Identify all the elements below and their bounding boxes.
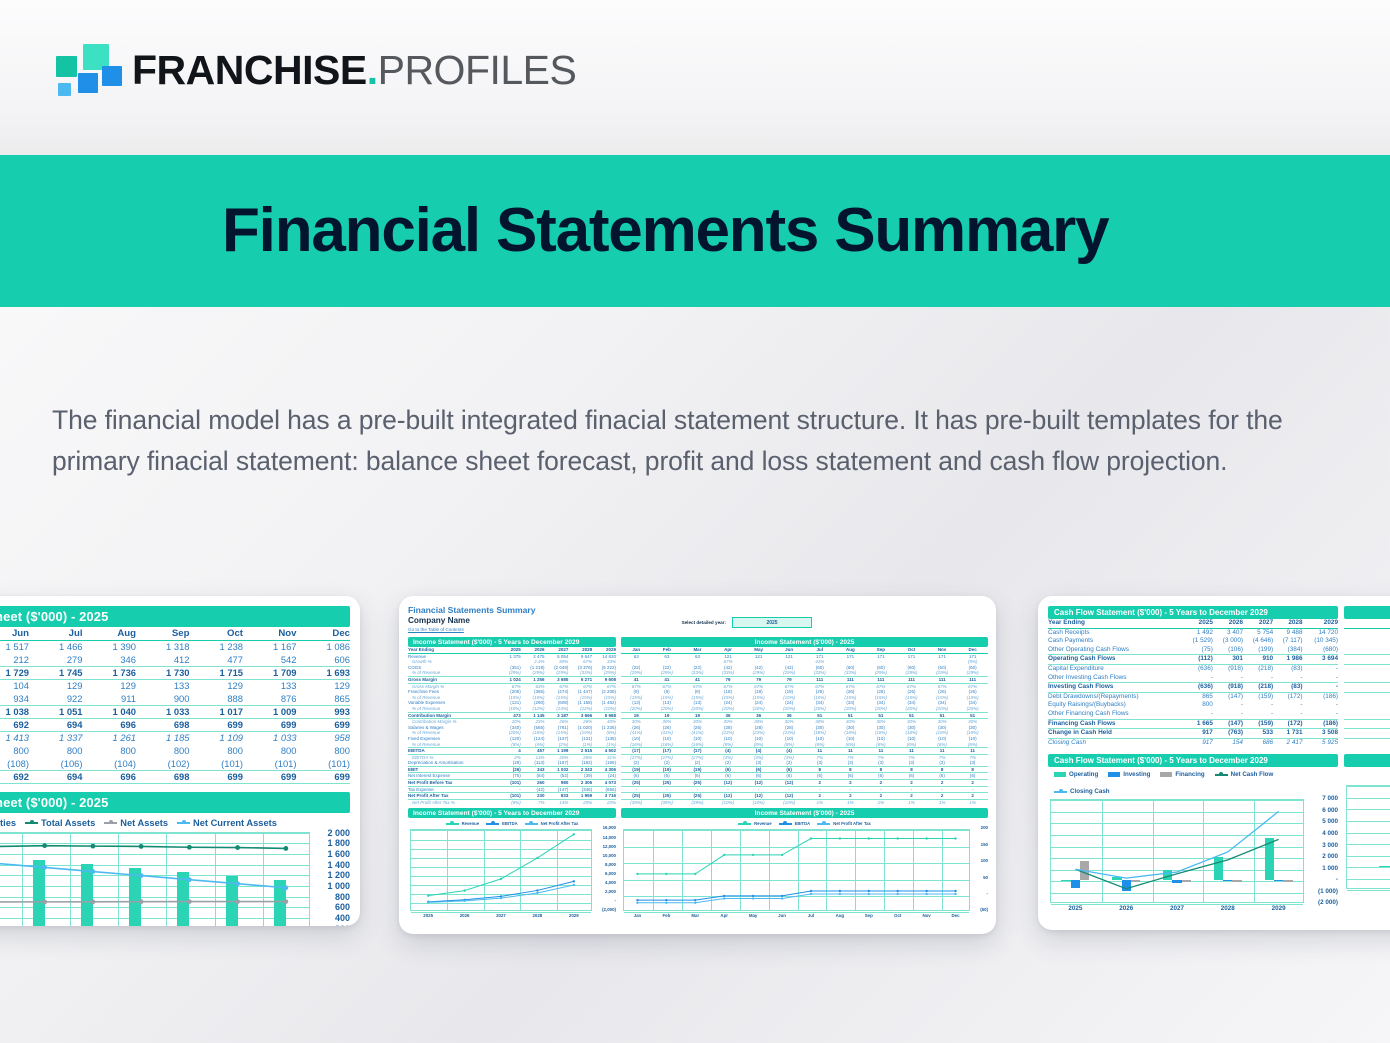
y-axis-tick: 800	[335, 892, 350, 902]
legend-label: EBITDA	[795, 821, 811, 826]
chart-bar	[1172, 880, 1181, 883]
table-row: 1 5711 5171 4661 3901 3181 2381 1671 086	[0, 640, 350, 653]
income-monthly-table-title: Income Statement ($'000) - 2025	[621, 637, 988, 647]
chart-bar	[1080, 861, 1089, 880]
table-row: Tax Expense-(42)(147)(346)(656)	[408, 786, 616, 793]
x-axis-tick: 2027	[1152, 905, 1203, 912]
chart-bar	[1131, 880, 1140, 882]
table-row: (7)	[1344, 646, 1390, 655]
x-axis-tick: Dec	[941, 913, 970, 918]
cash-flow-table-title: Cash Flow Statement ($'000) - 5 Years to…	[1048, 606, 1338, 619]
chart-bar	[1265, 838, 1274, 881]
table-row: 1 731	[1344, 738, 1390, 747]
column-header: 2026	[1213, 619, 1243, 628]
y-axis-tick: 200	[981, 825, 988, 830]
table-row: 414141797979111111111111111111	[621, 676, 988, 683]
income-statement-card[interactable]: Financial Statements Summary Company Nam…	[399, 596, 996, 934]
y-axis-tick: 4,000	[605, 880, 616, 885]
balance-sheet-card[interactable]: Balance Sheet ($'000) - 2025 MayJunJulAu…	[0, 596, 360, 926]
y-axis-tick: 600	[335, 902, 350, 912]
x-axis-tick: 2025	[1050, 905, 1101, 912]
y-axis-tick: 1 000	[1322, 865, 1338, 872]
x-axis-tick: 2027	[483, 913, 519, 918]
cash-flow-card[interactable]: Cash Flow Statement ($'000) - 5 Years to…	[1038, 596, 1390, 930]
logo-squares-icon	[48, 42, 110, 98]
table-row: Closing Cash9171546862 4175 925	[1048, 738, 1338, 747]
brand-name-bold: FRANCHISE	[132, 47, 367, 93]
x-axis-tick: 2026	[1101, 905, 1152, 912]
chart-bar	[1214, 857, 1223, 880]
chart-bar	[226, 876, 238, 926]
table-row: Change in Cash Held917(763)5331 7313 508	[1048, 729, 1338, 739]
table-row: (19)(19)(19)(6)(6)(6)888888	[621, 766, 988, 773]
y-axis-tick: (50)	[980, 907, 988, 912]
y-axis-tick: 1 000	[327, 881, 350, 891]
y-axis-tick: 2 000	[1322, 853, 1338, 860]
y-axis-tick: 1 600	[327, 849, 350, 859]
page-header: FRANCHISE.PROFILES	[0, 0, 1390, 155]
table-row: 1 789	[1344, 719, 1390, 729]
chart-bar	[1071, 880, 1080, 887]
cash-flow-detail-chart[interactable]: 7 0006 0005 0004 0003 0002 0001 000-(1 0…	[1344, 783, 1390, 903]
column-header: Oct	[190, 627, 244, 640]
table-row: (97)(108)(106)(104)(102)(101)(101)(101)	[0, 757, 350, 770]
table-row: 800800800800800800800800	[0, 744, 350, 757]
table-row: ------------	[621, 786, 988, 793]
table-row: % of Revenue(10%)(12%)(14%)(12%)(10%)	[408, 706, 616, 712]
table-row: (6)(6)(6)(6)(6)(6)(6)(6)(6)(6)(6)(6)	[621, 773, 988, 780]
legend-item: Net Assets	[104, 818, 168, 828]
x-axis-tick: 2028	[519, 913, 555, 918]
table-row: Financing Cash Flows1 665(147)(159)(172)…	[1048, 719, 1338, 729]
income-annual-chart-title: Income Statement ($'000) - 5 Years to De…	[408, 808, 616, 818]
table-row: 1 7491 7291 7451 7361 7301 7151 7091 693	[0, 666, 350, 679]
chart-bar	[1223, 880, 1232, 881]
x-axis-tick: May	[739, 913, 768, 918]
x-axis-tick: Jan	[1346, 891, 1390, 898]
balance-sheet-chart-title: Balance Sheet ($'000) - 2025	[0, 792, 350, 813]
table-row: 800	[1344, 701, 1390, 710]
table-row: Cash Receipts1 4923 4075 7549 48814 720	[1048, 628, 1338, 637]
legend-item: Financing	[1160, 771, 1204, 778]
balance-sheet-table-title: Balance Sheet ($'000) - 2025	[0, 606, 350, 627]
chart-bar	[1163, 870, 1172, 881]
legend-item: Operating	[1054, 771, 1098, 778]
y-axis-tick: 2 000	[327, 828, 350, 838]
x-axis-tick: Jun	[768, 913, 797, 918]
table-row: Debt Drawdowns/(Repayments)865(147)(159)…	[1048, 692, 1338, 701]
intro-paragraph: The financial model has a pre-built inte…	[52, 400, 1337, 482]
chart-bar	[1061, 880, 1070, 881]
table-row: Net Profit After Tax %(8%)7%14%20%23%	[408, 799, 616, 805]
column-header: 2029	[1303, 619, 1338, 628]
table-row: 703692694696698699699699	[0, 718, 350, 731]
x-axis-tick: Jul	[797, 913, 826, 918]
chart-bar	[1283, 880, 1292, 882]
legend-label: Total Assets	[41, 818, 95, 828]
table-row: (36)	[1344, 683, 1390, 693]
y-axis-tick: (2,000)	[602, 907, 616, 912]
table-row: 178212279346412477542606	[0, 653, 350, 666]
table-row: 101104129129133129133129	[0, 679, 350, 692]
x-axis-tick: Aug	[825, 913, 854, 918]
chart-bar	[1379, 866, 1390, 867]
x-axis-tick: Nov	[912, 913, 941, 918]
table-row: Other Operating Cash Flows(75)(106)(199)…	[1048, 646, 1338, 655]
y-axis-tick: 6,000	[605, 871, 616, 876]
x-axis-tick: 2029	[1253, 905, 1304, 912]
legend-item: Current Liabilities	[0, 818, 16, 828]
row-label: Year Ending	[1048, 619, 1183, 628]
table-row: Operating Cash Flows(112)3019101 9863 69…	[1048, 655, 1338, 665]
column-header: Nov	[243, 627, 297, 640]
table-row: % of Revenue(29%)(29%)(29%)(33%)(29%)	[408, 670, 616, 676]
table-row: 703692694696698699699699	[0, 770, 350, 783]
y-axis-tick: 1 400	[327, 860, 350, 870]
x-axis-tick: Jan	[623, 913, 652, 918]
brand-name-dot: .	[367, 47, 378, 93]
x-axis-tick: Sep	[854, 913, 883, 918]
legend-item: Revenue	[446, 821, 479, 826]
income-monthly-chart[interactable]: 20015010050-(50)JanFebMarAprMayJunJulAug…	[621, 827, 988, 922]
legend-label: Current Liabilities	[0, 818, 16, 828]
legend-item: Net Cash Flow	[1215, 771, 1274, 778]
legend-label: Revenue	[754, 821, 771, 826]
balance-sheet-legend: Current LiabilitiesTotal AssetsNet Asset…	[0, 818, 350, 828]
legend-item: Net Profit After Tax	[525, 821, 579, 826]
table-row: Capital Expenditure(636)(918)(218)(83)-	[1048, 664, 1338, 673]
table-row: Equity Raisings/(Buybacks)800----	[1048, 701, 1338, 710]
table-row: 191919363636515151515151	[621, 712, 988, 719]
column-header: Jul	[29, 627, 83, 640]
chart-bar	[129, 868, 141, 926]
table-row: 1 0451 0381 0511 0401 0331 0171 009993	[0, 705, 350, 718]
legend-label: Net Profit After Tax	[541, 821, 579, 826]
y-axis-tick: -	[615, 898, 616, 903]
table-row: (47)	[1344, 637, 1390, 646]
table-row: EBITDA44571 1992 5154 502	[408, 748, 616, 755]
legend-label: Net Cash Flow	[1231, 771, 1274, 778]
income-annual-table: Year Ending20252026202720282029Revenue1 …	[408, 647, 616, 805]
y-axis-tick: 2,000	[605, 889, 616, 894]
y-axis-tick: 150	[981, 842, 988, 847]
column-header: Sep	[136, 627, 190, 640]
cash-flow-chart[interactable]: 7 0006 0005 0004 0003 0002 0001 000-(1 0…	[1048, 797, 1338, 917]
x-axis-tick: 2029	[556, 913, 592, 918]
table-row: -	[1344, 674, 1390, 683]
table-row: Other Financing Cash Flows-----	[1048, 710, 1338, 719]
y-axis-tick: 5 000	[1322, 818, 1338, 825]
y-axis-tick: 8,000	[605, 862, 616, 867]
income-doc-title: Financial Statements Summary	[408, 605, 536, 615]
column-header: Aug	[83, 627, 137, 640]
legend-label: Revenue	[462, 821, 479, 826]
legend-label: Investing	[1123, 771, 1150, 778]
x-axis-tick: 2026	[446, 913, 482, 918]
brand-name-light: PROFILES	[378, 47, 577, 93]
table-row: 32	[1344, 628, 1390, 637]
legend-item: EBITDA	[486, 821, 518, 826]
x-axis-tick: 2025	[410, 913, 446, 918]
y-axis-tick: -	[987, 891, 988, 896]
legend-item: Revenue	[738, 821, 771, 826]
legend-label: Net Assets	[120, 818, 168, 828]
income-annual-table-title: Income Statement ($'000) - 5 Years to De…	[408, 637, 616, 647]
y-axis-tick: (2 000)	[1318, 899, 1338, 906]
chart-bar	[1274, 880, 1283, 881]
legend-item: Investing	[1108, 771, 1150, 778]
legend-label: Operating	[1069, 771, 1098, 778]
table-row: Contribution Margin4731 1453 1873 6665 9…	[408, 712, 616, 719]
income-company-name: Company Name	[408, 616, 536, 625]
table-row: Depreciation & Amortisation(29)(113)(167…	[408, 760, 616, 766]
year-selector-input[interactable]: 2025	[732, 617, 812, 628]
table-row: EBIT(26)3431 0322 3434 306	[408, 766, 616, 773]
y-axis-tick: 12,000	[603, 844, 616, 849]
balance-sheet-table: MayJunJulAugSepOctNovDec1 5711 5171 4661…	[0, 627, 350, 784]
legend-item: Net Profit After Tax	[817, 821, 871, 826]
y-axis-tick: 1 800	[327, 838, 350, 848]
table-row: 945934922911900888876865	[0, 692, 350, 705]
table-row: Net Interest Expense(75)(84)(52)(39)(24)	[408, 773, 616, 780]
table-row: 1 4711 4131 3371 2611 1851 1091 033958	[0, 731, 350, 744]
legend-item: Total Assets	[25, 818, 95, 828]
chart-bar	[274, 880, 286, 926]
table-row: 1 731	[1344, 729, 1390, 739]
legend-label: Closing Cash	[1070, 788, 1110, 795]
column-header: Jun	[0, 627, 29, 640]
income-monthly-chart-legend: RevenueEBITDANet Profit After Tax	[621, 821, 988, 826]
legend-item: Net Current Assets	[177, 818, 277, 828]
y-axis-tick: 1 200	[327, 870, 350, 880]
table-row: Contribution Margin %20%23%26%26%40%	[408, 719, 616, 725]
legend-label: Financing	[1175, 771, 1204, 778]
chart-bar	[177, 872, 189, 926]
column-header: 2025	[1183, 619, 1213, 628]
x-axis-tick: Feb	[652, 913, 681, 918]
table-row: Investing Cash Flows(636)(918)(218)(83)-	[1048, 683, 1338, 693]
table-row: Fixed Expenses(120)(124)(127)(131)(135)	[408, 736, 616, 742]
column-header: 2028	[1273, 619, 1302, 628]
y-axis-tick: -	[1336, 876, 1338, 883]
y-axis-tick: 14,000	[603, 835, 616, 840]
chart-bar	[33, 860, 45, 926]
y-axis-tick: 400	[335, 913, 350, 923]
legend-item: Closing Cash	[1054, 788, 1110, 795]
x-axis-tick: Apr	[710, 913, 739, 918]
income-monthly-table: JanFebMarAprMayJunJulAugSepOctNovDec6363…	[621, 647, 988, 805]
table-header-row: MayJunJulAugSepOctNovDec	[0, 627, 350, 640]
x-axis-tick: Oct	[883, 913, 912, 918]
column-header: Dec	[297, 627, 351, 640]
table-row: (25)(25)(25)(12)(12)(12)222222	[621, 780, 988, 787]
column-header: Jan	[1344, 619, 1390, 628]
chart-bar	[1182, 880, 1191, 882]
table-row: Other Investing Cash Flows-----	[1048, 674, 1338, 683]
legend-label: Net Profit After Tax	[833, 821, 871, 826]
table-row: Net Profit After Tax(101)2308331 9593 71…	[408, 793, 616, 800]
chart-bar	[1232, 880, 1241, 882]
table-row: -	[1344, 710, 1390, 719]
page-title: Financial Statements Summary	[222, 200, 1108, 262]
y-axis-tick: (1 000)	[1318, 888, 1338, 895]
x-axis-tick: Mar	[681, 913, 710, 918]
table-row: (39%)(39%)(39%)(10%)(10%)(10%)1%1%1%1%1%…	[621, 799, 988, 805]
table-row: Net Profit Before Tax(101)2609802 3054 0…	[408, 780, 616, 787]
table-row: (22)	[1344, 655, 1390, 665]
column-header: 2027	[1243, 619, 1273, 628]
table-row: % of Revenue(8%)(4%)(2%)(1%)(1%)	[408, 742, 616, 748]
cash-flow-table: Year Ending20252026202720282029Cash Rece…	[1048, 619, 1338, 747]
y-axis-tick: 16,000	[603, 825, 616, 830]
table-of-contents-link[interactable]: Go to the Table of Contents	[408, 627, 536, 632]
cash-flow-chart-title: Cash Flow Statement ($'000) - 5 Years to…	[1048, 754, 1338, 767]
chart-bar	[81, 864, 93, 926]
table-row: Gross Margin1 0241 2563 6856 2719 608	[408, 676, 616, 683]
table-row: (17)(17)(17)(4)(4)(4)111111111111	[621, 748, 988, 755]
legend-item: EBITDA	[779, 821, 811, 826]
table-row: (36)	[1344, 664, 1390, 673]
legend-label: Net Current Assets	[193, 818, 277, 828]
income-annual-chart-legend: RevenueEBITDANet Profit After Tax	[408, 821, 616, 826]
chart-bar	[1122, 880, 1131, 891]
cash-flow-detail-table: Jan32(47)(7)(22)(36)-(36)989800-1 7891 7…	[1344, 619, 1390, 747]
income-annual-chart[interactable]: 16,00014,00012,00010,0008,0006,0004,0002…	[408, 827, 616, 922]
y-axis-tick: 6 000	[1322, 807, 1338, 814]
legend-label: EBITDA	[502, 821, 518, 826]
y-axis-tick: 10,000	[603, 853, 616, 858]
table-row: Cash Payments(1 529)(3 000)(4 646)(7 117…	[1048, 637, 1338, 646]
y-axis-tick: 200	[335, 924, 350, 926]
title-banner: Financial Statements Summary	[0, 155, 1390, 307]
x-axis-tick: 2028	[1202, 905, 1253, 912]
y-axis-tick: 7 000	[1322, 795, 1338, 802]
y-axis-tick: 100	[981, 858, 988, 863]
table-row: 989	[1344, 692, 1390, 701]
chart-bar	[1112, 877, 1121, 880]
y-axis-tick: 4 000	[1322, 830, 1338, 837]
balance-sheet-chart[interactable]: 2 0001 8001 6001 4001 2001 0008006004002…	[0, 830, 350, 927]
brand-logo: FRANCHISE.PROFILES	[48, 42, 576, 98]
y-axis-tick: 3 000	[1322, 842, 1338, 849]
income-monthly-chart-title: Income Statement ($'000) - 2025	[621, 808, 988, 818]
table-row: (25)(25)(25)(12)(12)(12)222222	[621, 793, 988, 800]
cash-flow-chart-legend: OperatingInvestingFinancingNet Cash Flow…	[1054, 771, 1304, 795]
brand-wordmark: FRANCHISE.PROFILES	[132, 47, 576, 94]
y-axis-tick: 50	[983, 875, 988, 880]
year-selector-label: Select detailed year:	[682, 620, 726, 625]
